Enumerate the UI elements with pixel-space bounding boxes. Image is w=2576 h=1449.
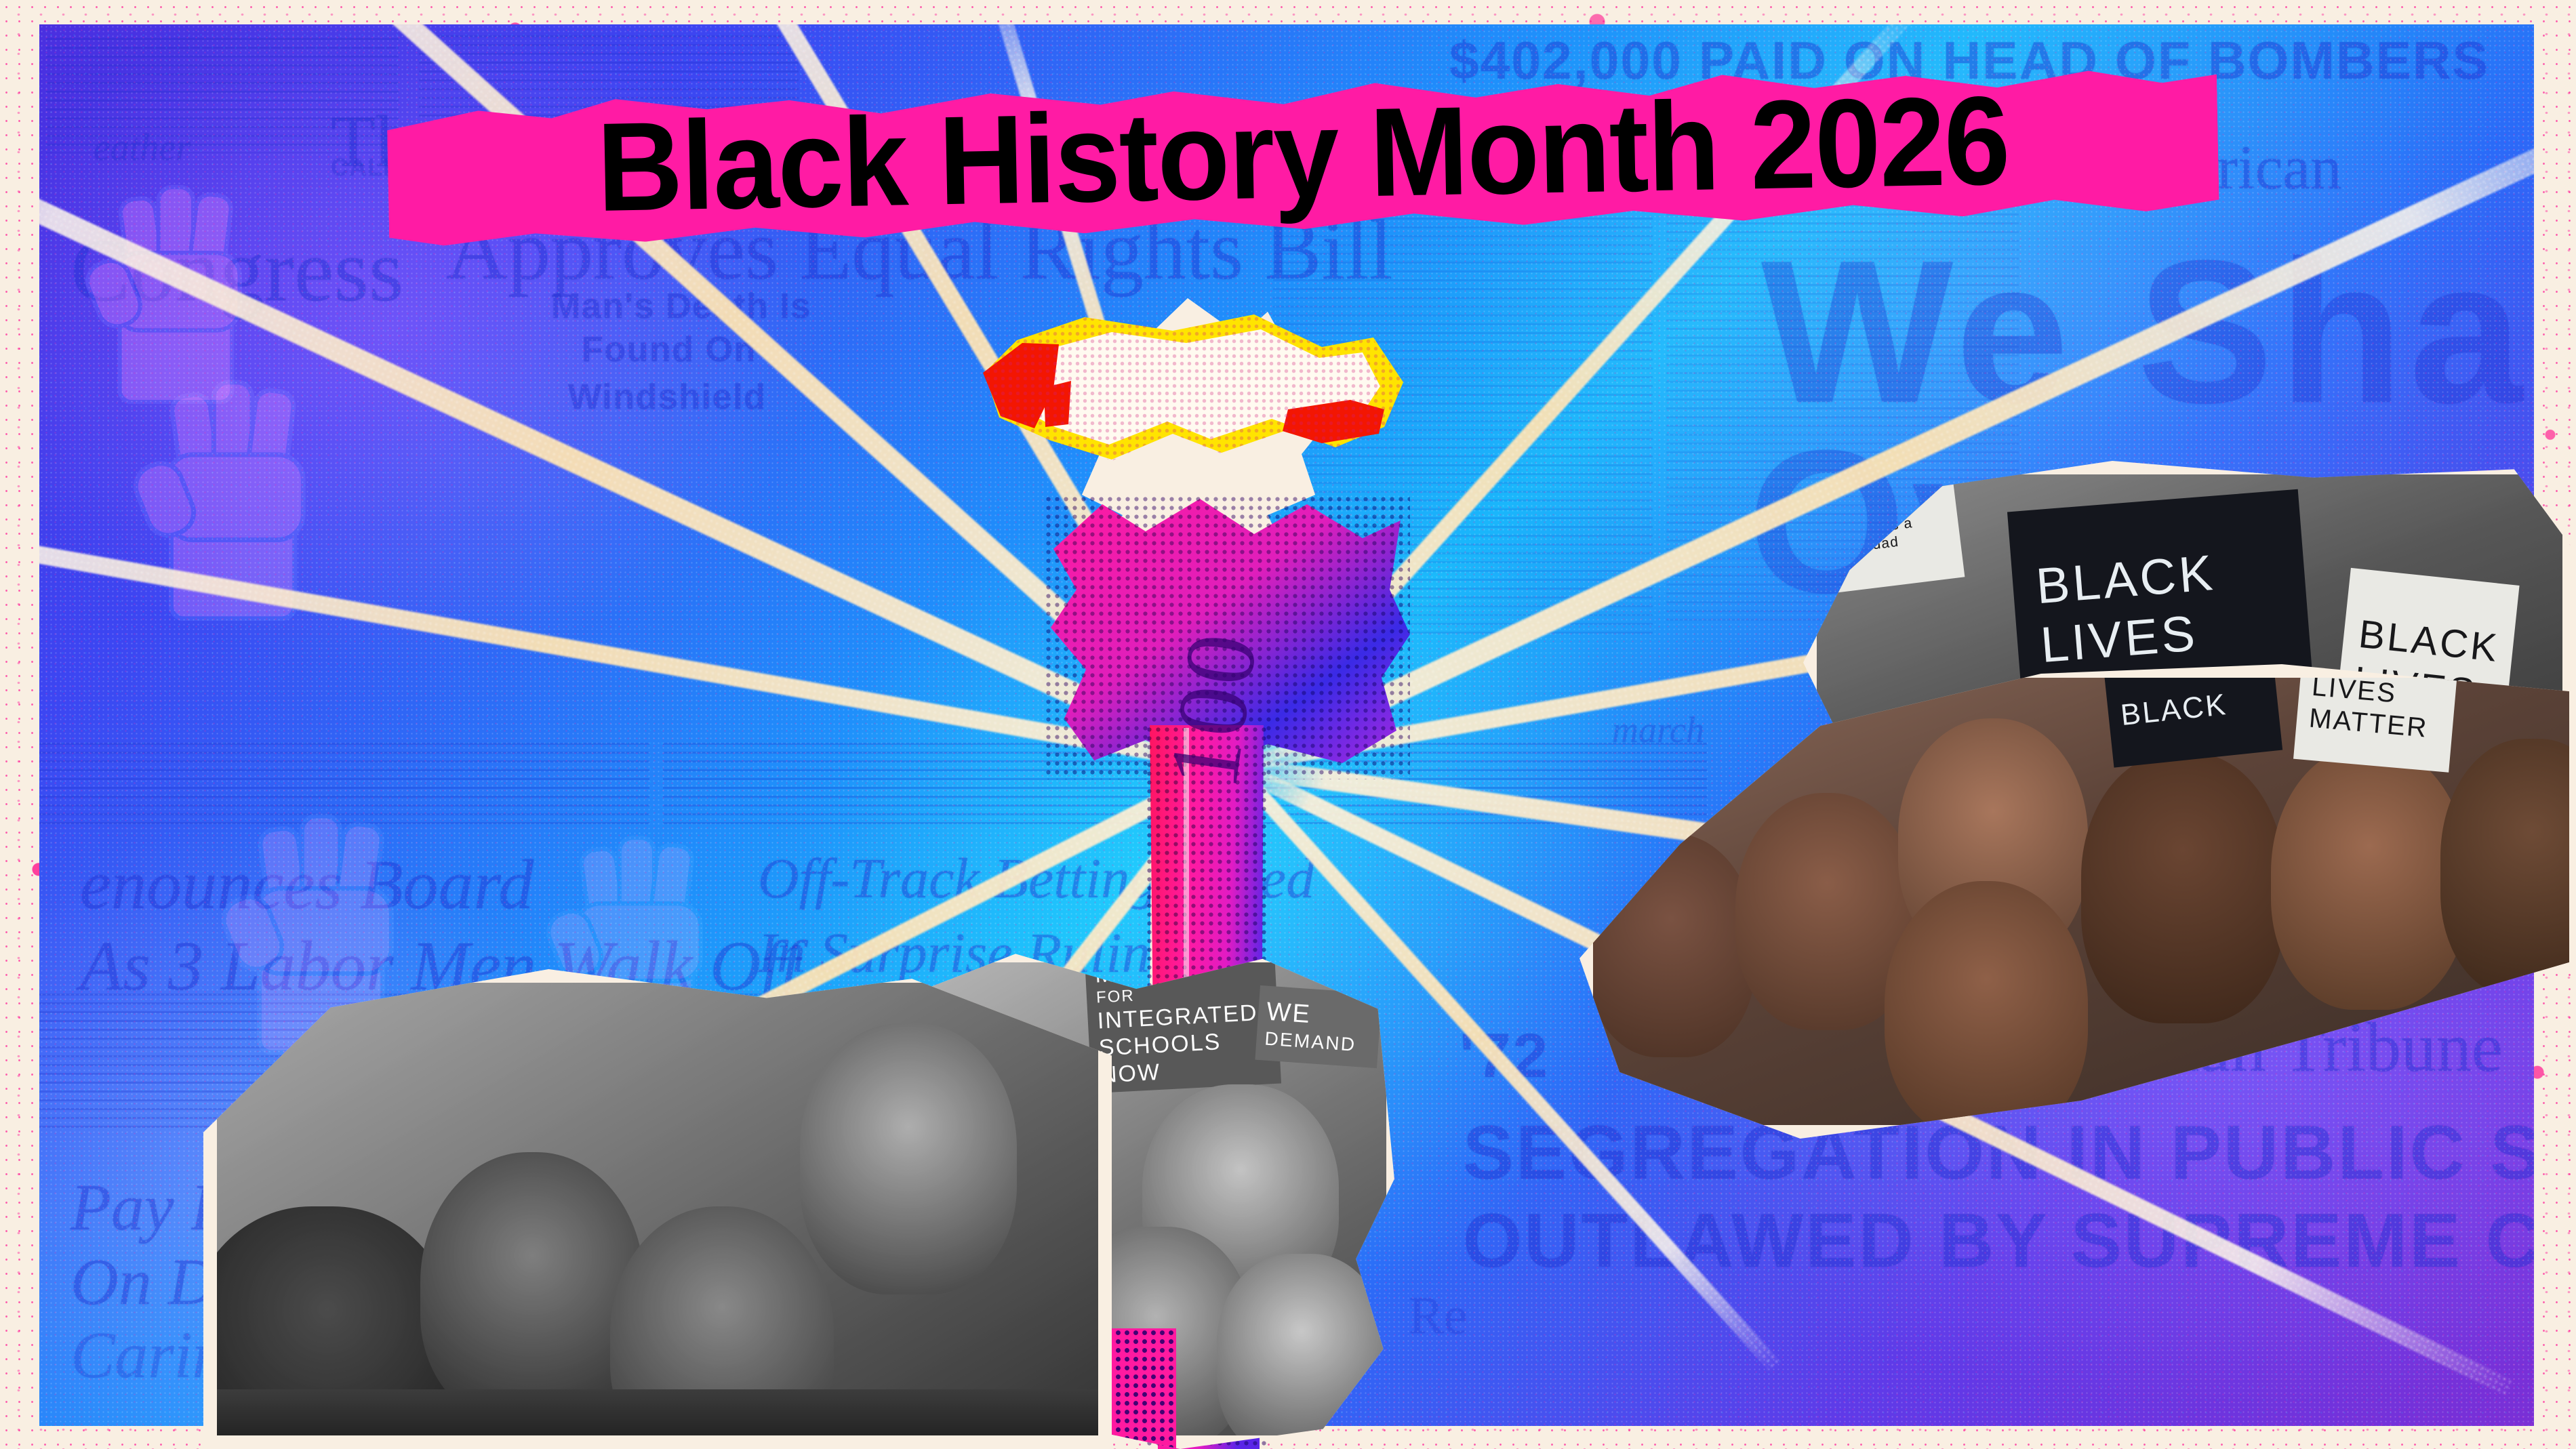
background-protest-sign: LIVES MATTER (2293, 678, 2459, 773)
historic-crowd (217, 1389, 1098, 1435)
portrait-rosa-parks (800, 1023, 1017, 1294)
poster-canvas: eather CALL FOR HOME DELIVERY The $402,0… (0, 0, 2576, 1449)
portrait-angela-davis (420, 1152, 644, 1423)
historic-figures-cutout (203, 969, 1112, 1449)
portrait-ibram-x-kendi (2081, 752, 2285, 1023)
historic-figures-photo (217, 983, 1098, 1435)
bg-sign-text: BLACK (2119, 683, 2267, 733)
portrait-ta-nehisi-coates (2440, 739, 2569, 996)
background-protest-sign: BLACK (2104, 678, 2282, 768)
portrait-patrisse-cullors (1885, 881, 2088, 1125)
torch-number-100: 100 (1146, 624, 1281, 795)
portrait-ava-duvernay (2271, 746, 2468, 1010)
